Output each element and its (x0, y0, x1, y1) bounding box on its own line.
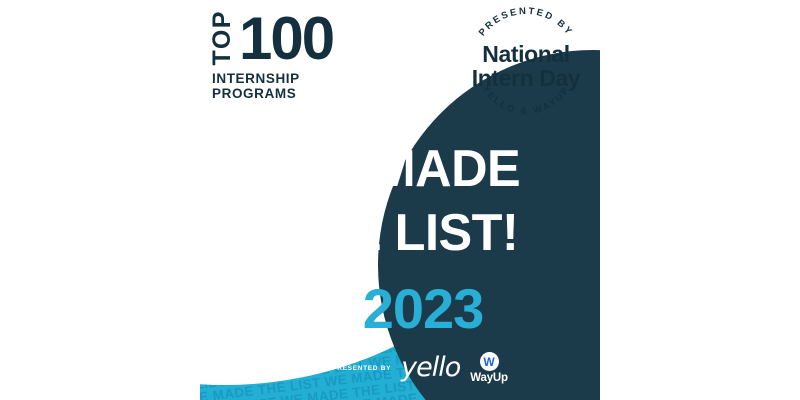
wayup-mark-icon: W (480, 352, 499, 371)
national-intern-day-seal: PRESENTED BY YELLO & WAYUP National Inte… (458, 4, 594, 122)
badge-card: WE MADE THE LIST WE MADE THE LIST WE MAD… (200, 0, 600, 400)
top100-logo: TOP 100 INTERNSHIP PROGRAMS (208, 8, 378, 101)
headline: WE MADE THE LIST! (206, 137, 594, 265)
wayup-wordmark: WayUp (470, 372, 508, 384)
poster-canvas: WE MADE THE LIST WE MADE THE LIST WE MAD… (0, 0, 800, 400)
seal-line-2: Intern Day (458, 66, 594, 90)
wayup-logo: W WayUp (470, 352, 508, 384)
headline-line-1: WE MADE (206, 137, 594, 201)
footer-presented-by-label: PRESENTED BY (332, 365, 391, 372)
top100-number: 100 (239, 11, 333, 66)
headline-line-2: THE LIST! (206, 201, 594, 265)
top100-subtitle: INTERNSHIP PROGRAMS (208, 71, 378, 101)
top100-top-word: TOP (210, 10, 235, 65)
yello-logo: yello (401, 354, 460, 381)
year-label: 2023 (200, 281, 600, 337)
seal-line-1: National (458, 42, 594, 66)
svg-text:PRESENTED BY: PRESENTED BY (477, 6, 575, 38)
top100-logo-row: TOP 100 (208, 8, 378, 66)
seal-wordmark: National Intern Day (458, 42, 594, 90)
footer-credits: PRESENTED BY yello W WayUp (200, 352, 600, 384)
